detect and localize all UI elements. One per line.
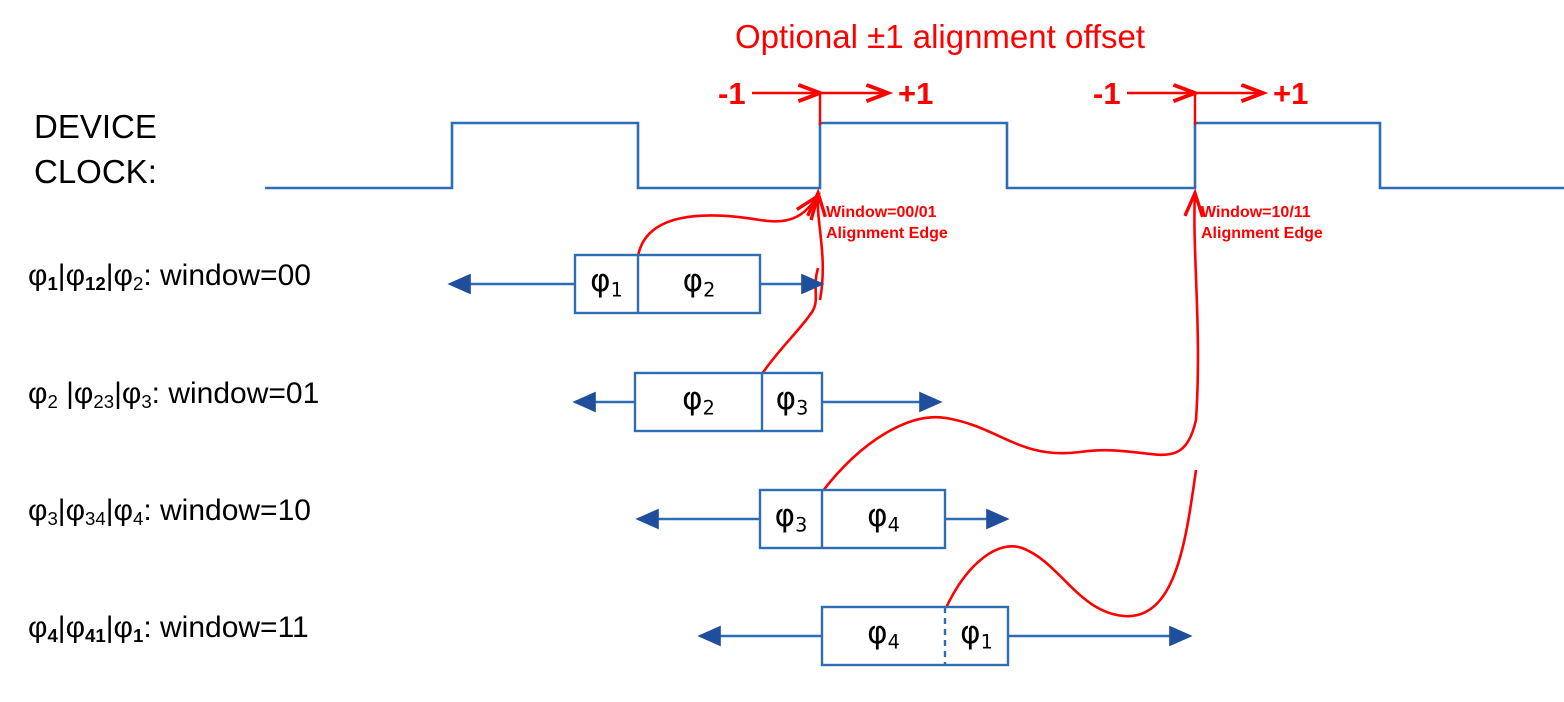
offset-minus-label-2: -1 [1093,76,1121,112]
alignment-note-2: Window=10/11 Alignment Edge [1201,202,1323,244]
row-2-cell-1-label: φ4 [867,498,900,536]
device-clock-label-line2: CLOCK: [34,153,157,191]
row-1-label: φ2 |φ23|φ3: window=01 [28,377,319,413]
row-graphics-layer [450,255,1190,665]
row-1-cell-0-label: φ2 [682,381,715,419]
row-2-graphics [638,490,1007,548]
connector-row1-to-edge1 [638,196,818,256]
row-0-cell-1-label: φ2 [683,263,716,301]
offset-plus-label-2: +1 [1273,76,1308,112]
device-clock-waveform [265,123,1564,188]
alignment-note-2-line2: Alignment Edge [1201,223,1323,244]
alignment-note-1: Window=00/01 Alignment Edge [826,202,948,244]
connector-row3-to-edge2 [822,417,1196,492]
row-1-cell-1-label: φ3 [776,381,809,419]
device-clock-label-line1: DEVICE [34,108,157,146]
alignment-note-1-line2: Alignment Edge [826,223,948,244]
row-3-cell-0-label: φ4 [867,615,900,653]
alignment-note-2-line1: Window=10/11 [1201,202,1323,223]
row-0-graphics [450,255,822,313]
page-title: Optional ±1 alignment offset [735,18,1145,56]
row-0-cell-0-label: φ1 [590,263,623,301]
row-2-label: φ3|φ34|φ4: window=10 [28,494,311,530]
row-2-cell-0-label: φ3 [775,498,808,536]
connector-row4-to-edge2 [945,470,1196,616]
row-3-label: φ4|φ41|φ1: window=11 [28,611,309,647]
alignment-note-1-line1: Window=00/01 [826,202,948,223]
offset-minus-label-1: -1 [718,76,746,112]
offset-plus-label-1: +1 [898,76,933,112]
row-0-label: φ1|φ12|φ2: window=00 [28,259,311,295]
alignment-offset-marker-1 [752,93,888,125]
row-3-cell-1-label: φ1 [960,615,993,653]
alignment-offset-marker-2 [1127,93,1263,125]
alignment-edge-stem-2 [1194,193,1198,420]
timing-diagram-canvas [0,0,1564,702]
row-1-graphics [575,373,940,431]
